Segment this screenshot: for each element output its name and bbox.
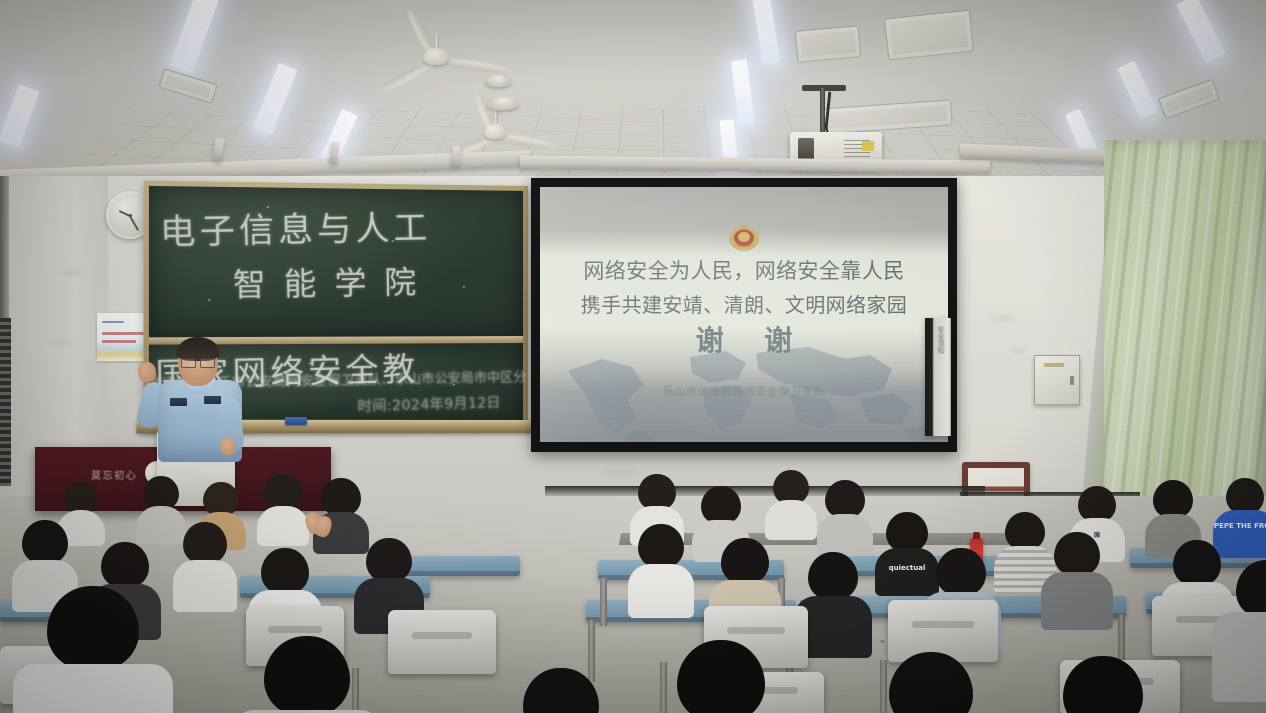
person-head — [886, 512, 928, 552]
chalk-dust — [267, 206, 269, 208]
person-head — [264, 474, 302, 510]
bottle-cap — [973, 532, 980, 539]
person-torso — [1041, 572, 1113, 630]
audience-member — [1152, 480, 1194, 540]
blackboard-date-line: 时间:2024年9月12日 — [357, 392, 501, 416]
audience-member — [60, 482, 102, 542]
person-head — [22, 520, 68, 564]
person-head — [203, 482, 239, 516]
floor-speck — [880, 640, 885, 643]
audience-member — [1056, 532, 1098, 602]
notice-board-text: 安全须知 — [936, 326, 944, 354]
tshirt-graphic-text: quiectual — [889, 564, 926, 572]
person-head — [143, 476, 179, 510]
chalk-dust — [208, 299, 210, 301]
ceiling-hanger — [451, 146, 460, 167]
person-torso — [1212, 612, 1266, 702]
audience-member — [184, 522, 226, 592]
person-head — [1005, 512, 1045, 550]
chair-handle-slot — [912, 621, 974, 628]
person-head — [47, 586, 139, 670]
smoke-detector — [485, 75, 511, 87]
audience-member: PEPE THE FROG — [1224, 478, 1266, 538]
chalk-dust — [179, 218, 181, 220]
audience-member — [812, 552, 854, 622]
slide-footer-org: 乐山市公安局网络安全保卫支队 — [540, 383, 948, 399]
ceiling-fan — [470, 110, 520, 148]
audience-member — [24, 520, 66, 590]
slide-heading-line2: 携手共建安靖、清朗、文明网络家园 — [540, 289, 948, 318]
speaker-shoulder-insignia — [204, 396, 221, 404]
ceiling-fixture — [487, 97, 519, 110]
ceiling-fan — [406, 34, 466, 78]
audience-member-clapping — [310, 498, 352, 558]
audience-member — [640, 524, 682, 594]
chalk-dust — [392, 240, 394, 242]
slide-heading-line1: 网络安全为人民，网络安全靠人民 — [540, 255, 948, 285]
panel-label — [1044, 363, 1064, 367]
person-torso — [765, 500, 817, 540]
chair-leg — [352, 668, 359, 713]
poster-line — [102, 332, 146, 335]
slide-thanks-text: 谢 谢 — [540, 319, 948, 359]
person-head — [183, 522, 227, 564]
podium-left-text: 莫忘初心 — [91, 467, 137, 482]
police-badge-icon — [727, 223, 761, 253]
speaker-name-badge — [170, 398, 187, 406]
person-torso — [628, 564, 694, 618]
person-head — [721, 538, 769, 584]
speaker-presenter — [136, 340, 266, 460]
audience-member-foreground — [286, 636, 328, 713]
chair-leg — [660, 662, 667, 713]
person-head — [1153, 480, 1193, 518]
fan-hub — [423, 48, 449, 65]
person-head — [1173, 540, 1221, 586]
person-torso — [136, 506, 186, 544]
person-head — [936, 548, 986, 596]
clock-minute-hand — [129, 215, 139, 231]
classroom-photo: 电子信息与人工 智 能 学 院 国家网络安全教 邀请单位：乐市公安局网安全保卫支… — [0, 0, 1266, 713]
desk-leg — [600, 578, 607, 626]
person-torso — [13, 664, 173, 713]
person-head — [808, 552, 858, 600]
blackboard-eraser — [285, 417, 307, 425]
notice-board: 安全须知 — [925, 318, 951, 436]
chalk-dust — [309, 362, 311, 364]
person-head — [1054, 532, 1100, 576]
ceiling-vent — [884, 10, 974, 61]
person-torso — [817, 514, 873, 556]
person-head — [264, 636, 350, 713]
glasses-lens-left — [181, 358, 196, 368]
person-head — [1078, 486, 1116, 522]
person-torso-pepe-shirt — [1213, 510, 1266, 558]
audience-member-foreground — [1082, 656, 1124, 713]
wall-mark — [990, 316, 1014, 321]
person-head — [366, 538, 412, 582]
chair-handle-slot — [268, 626, 323, 633]
ceiling-vent — [795, 25, 862, 62]
audience-member — [700, 486, 742, 546]
speaker-raised-hand — [136, 361, 157, 384]
ceiling-projector — [790, 88, 882, 168]
person-head — [825, 480, 865, 518]
audience-member-foreground — [700, 640, 742, 713]
speaker-glasses-icon — [181, 358, 215, 366]
person-head — [638, 474, 676, 510]
blackboard-text-line1: 电子信息与人工 — [159, 200, 432, 254]
person-torso — [875, 548, 939, 596]
poster-line — [102, 340, 136, 343]
desk-leg — [588, 620, 595, 682]
blackboard-text-line2: 智 能 学 院 — [232, 257, 420, 306]
fan-hub — [484, 124, 506, 139]
wall-mark — [1010, 348, 1026, 353]
audience-member — [1004, 512, 1046, 572]
wall-mark — [600, 470, 640, 476]
poster-line — [102, 321, 124, 323]
lecture-chair[interactable] — [388, 610, 496, 674]
person-head — [701, 486, 741, 524]
projection-screen: 网络安全为人民，网络安全靠人民 携手共建安靖、清朗、文明网络家园 谢 谢 乐山市… — [531, 178, 957, 452]
audience-member-foreground — [910, 652, 952, 713]
audience-member — [724, 538, 766, 608]
audience-member-foreground — [72, 586, 114, 713]
chair-handle-slot — [727, 627, 785, 634]
projector-cable — [824, 92, 840, 137]
panel-latch-icon[interactable] — [1070, 376, 1074, 385]
audience-member-foreground — [1246, 560, 1266, 690]
blackboard-upper-panel: 电子信息与人工 智 能 学 院 — [149, 186, 523, 337]
projector-lens-icon — [798, 138, 814, 160]
wall-mark — [46, 340, 74, 345]
audience-member — [262, 474, 304, 534]
projection-screen-surface: 网络安全为人民，网络安全靠人民 携手共建安靖、清朗、文明网络家园 谢 谢 乐山市… — [540, 187, 948, 442]
audience-member — [770, 470, 812, 530]
audience-member: quiectual — [886, 512, 928, 572]
chalk-dust — [463, 286, 465, 288]
person-head — [1226, 478, 1264, 514]
person-head — [773, 470, 809, 504]
audience-member-foreground — [540, 668, 582, 713]
glasses-lens-right — [200, 358, 215, 368]
person-head — [261, 548, 309, 594]
audience-member — [140, 476, 182, 536]
chair-leg — [880, 660, 887, 713]
person-head — [101, 542, 149, 588]
audience-member — [824, 480, 866, 540]
tshirt-graphic-text: PEPE THE FROG — [1214, 522, 1266, 530]
chair-handle-slot — [412, 632, 472, 639]
person-torso — [173, 560, 237, 612]
audience-member — [368, 538, 410, 608]
person-head — [638, 524, 684, 568]
person-torso — [257, 506, 309, 546]
clock-center — [129, 214, 132, 217]
speaker-right-hand — [220, 438, 236, 455]
wall-mark — [60, 270, 82, 276]
projector-label — [862, 141, 874, 151]
electrical-panel-box — [1034, 355, 1080, 405]
left-ac-grill — [0, 318, 11, 486]
